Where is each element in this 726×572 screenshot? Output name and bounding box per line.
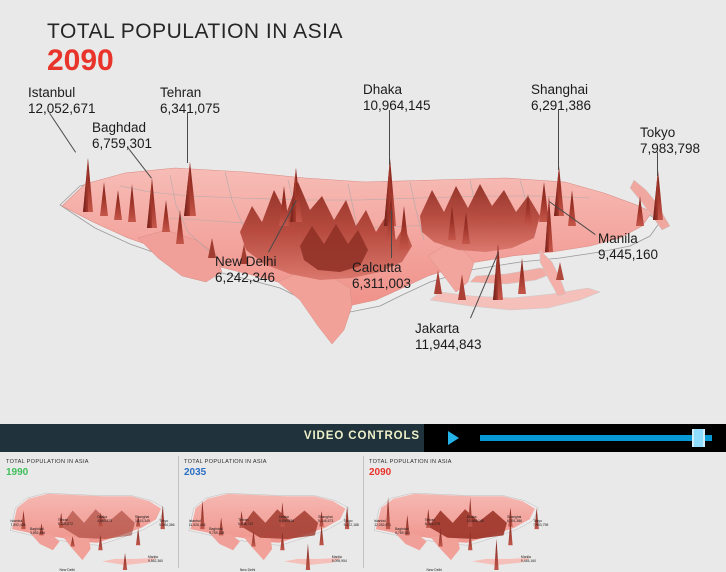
callout-leader-line [657, 152, 658, 176]
city-callout: Manila9,445,160 [598, 231, 658, 263]
thumbnail-city-callout: Baghdad5,759,228 [209, 527, 224, 536]
thumbnail-city-callout: New Delhi4,959,502 [240, 568, 255, 572]
thumbnail-city-population: 12,052,671 [374, 523, 391, 527]
thumbnail-city-population: 4,660,573 [97, 519, 112, 523]
thumbnail-city-callout: Tehran5,638,712 [238, 518, 253, 527]
city-population: 6,291,386 [531, 98, 591, 114]
thumbnail-city-population: 3,615,349 [135, 519, 150, 523]
city-name: Istanbul [28, 85, 96, 101]
thumbnail-city-callout: Tokyo7,983,798 [533, 519, 548, 528]
thumbnail-city-callout: Baghdad6,759,301 [395, 527, 410, 536]
thumbnail-city-callout: Dhaka10,964,145 [467, 515, 484, 524]
thumbnail-city-population: 10,964,145 [467, 519, 484, 523]
city-population: 6,759,301 [92, 136, 152, 152]
thumbnail-city-population: 9,222,188 [344, 523, 359, 527]
thumbnail-city-population: 5,638,712 [238, 522, 253, 526]
city-name: Jakarta [415, 321, 482, 337]
city-population: 12,052,671 [28, 101, 96, 117]
thumbnail-city-population: 7,983,798 [533, 523, 548, 527]
city-population: 6,242,346 [215, 270, 277, 286]
city-callout: Tokyo7,983,798 [640, 125, 700, 157]
video-controls-bar: VIDEO CONTROLS [0, 424, 726, 452]
city-name: Tehran [160, 85, 220, 101]
thumbnail-city-population: 9,445,160 [521, 559, 536, 563]
thumbnail-city-population: 6,291,386 [507, 519, 522, 523]
thumbnail-city-population: 9,899,556 [279, 519, 294, 523]
city-population: 11,944,843 [415, 337, 482, 353]
thumbnail-city-callout: Tokyo9,584,366 [159, 519, 174, 528]
thumbnail-city-callout: Shanghai3,615,349 [135, 515, 150, 524]
callout-leader-line [558, 110, 559, 170]
thumbnail-city-population: 5,225,872 [58, 522, 73, 526]
city-population: 6,341,075 [160, 101, 220, 117]
video-controls-label: VIDEO CONTROLS [304, 430, 420, 442]
thumbnail-city-callout: Shanghai5,146,673 [318, 515, 333, 524]
thumbnail-city-population: 5,562,360 [148, 559, 163, 563]
thumbnail-city-callout: Tokyo9,222,188 [344, 519, 359, 528]
thumbnail-city-population: 5,146,673 [318, 519, 333, 523]
thumbnail-map [363, 452, 553, 572]
thumbnail-city-callout: New Delhi3,198,616 [60, 568, 75, 572]
thumbnail-city-callout: Manila8,095,954 [332, 555, 347, 564]
city-name: Tokyo [640, 125, 700, 141]
thumbnail-city-population: 11,526,444 [189, 523, 206, 527]
callout-leader-line [391, 210, 392, 258]
city-callout: Jakarta11,944,843 [415, 321, 482, 353]
thumbnail-map [178, 452, 363, 572]
city-name: Manila [598, 231, 658, 247]
thumbnail-city-callout: Dhaka9,899,556 [279, 515, 294, 524]
city-population: 7,983,798 [640, 141, 700, 157]
thumbnail-city-callout: New Delhi6,242,346 [427, 568, 442, 572]
thumbnail-city-callout: Baghdad3,892,846 [30, 527, 45, 536]
thumbnail-city-population: 6,341,075 [425, 522, 440, 526]
thumbnail-city-callout: Manila9,445,160 [521, 555, 536, 564]
player-shell [424, 424, 726, 452]
thumbnail-city-population: 8,095,954 [332, 559, 347, 563]
thumbnail-map [0, 452, 178, 572]
thumbnail-city-population: 3,892,846 [30, 531, 45, 535]
thumbnail-city-callout: Istanbul11,526,444 [189, 519, 206, 528]
city-callout: New Delhi6,242,346 [215, 254, 277, 286]
timeline-thumbnail[interactable]: TOTAL POPULATION IN ASIA2090Istanbul12,0… [363, 452, 553, 572]
timeline-thumbnail-strip: TOTAL POPULATION IN ASIA1990Istanbul7,89… [0, 452, 726, 572]
callout-leader-line [187, 113, 188, 163]
thumbnail-city-callout: Dhaka4,660,573 [97, 515, 112, 524]
thumbnail-divider [363, 456, 364, 568]
timeline-thumbnail[interactable]: TOTAL POPULATION IN ASIA1990Istanbul7,89… [0, 452, 178, 572]
thumbnail-city-callout: Manila5,562,360 [148, 555, 163, 564]
city-population: 9,445,160 [598, 247, 658, 263]
city-name: Shanghai [531, 82, 591, 98]
thumbnail-city-callout: Shanghai6,291,386 [507, 515, 522, 524]
thumbnail-city-callout: Istanbul12,052,671 [374, 519, 391, 528]
city-callout: Shanghai6,291,386 [531, 82, 591, 114]
callout-leader-line [389, 110, 390, 165]
city-callout: Istanbul12,052,671 [28, 85, 96, 117]
scrubber-track[interactable] [480, 435, 712, 441]
city-callout: Tehran6,341,075 [160, 85, 220, 117]
city-name: Calcutta [352, 260, 411, 276]
city-callout: Dhaka10,964,145 [363, 82, 431, 114]
city-callout: Baghdad6,759,301 [92, 120, 152, 152]
city-population: 10,964,145 [363, 98, 431, 114]
scrubber-thumb[interactable] [692, 429, 705, 447]
main-visualization-panel: TOTAL POPULATION IN ASIA 2090 [0, 0, 726, 422]
thumbnail-divider [178, 456, 179, 568]
city-name: Baghdad [92, 120, 152, 136]
city-callout: Calcutta6,311,003 [352, 260, 411, 292]
city-name: New Delhi [215, 254, 277, 270]
map-terrain-svg [0, 0, 726, 422]
thumbnail-city-callout: Istanbul7,892,436 [10, 519, 25, 528]
city-population: 6,311,003 [352, 276, 411, 292]
thumbnail-city-population: 7,892,436 [10, 523, 25, 527]
thumbnail-city-callout: Tehran5,225,872 [58, 518, 73, 527]
thumbnail-city-callout: Tehran6,341,075 [425, 518, 440, 527]
thumbnail-city-population: 5,759,228 [209, 531, 224, 535]
city-name: Dhaka [363, 82, 431, 98]
asia-population-map: Istanbul12,052,671Baghdad6,759,301Tehran… [0, 0, 726, 422]
thumbnail-city-population: 9,584,366 [159, 523, 174, 527]
thumbnail-city-population: 6,759,301 [395, 531, 410, 535]
play-triangle-icon[interactable] [448, 431, 459, 445]
timeline-thumbnail[interactable]: TOTAL POPULATION IN ASIA2035Istanbul11,5… [178, 452, 363, 572]
